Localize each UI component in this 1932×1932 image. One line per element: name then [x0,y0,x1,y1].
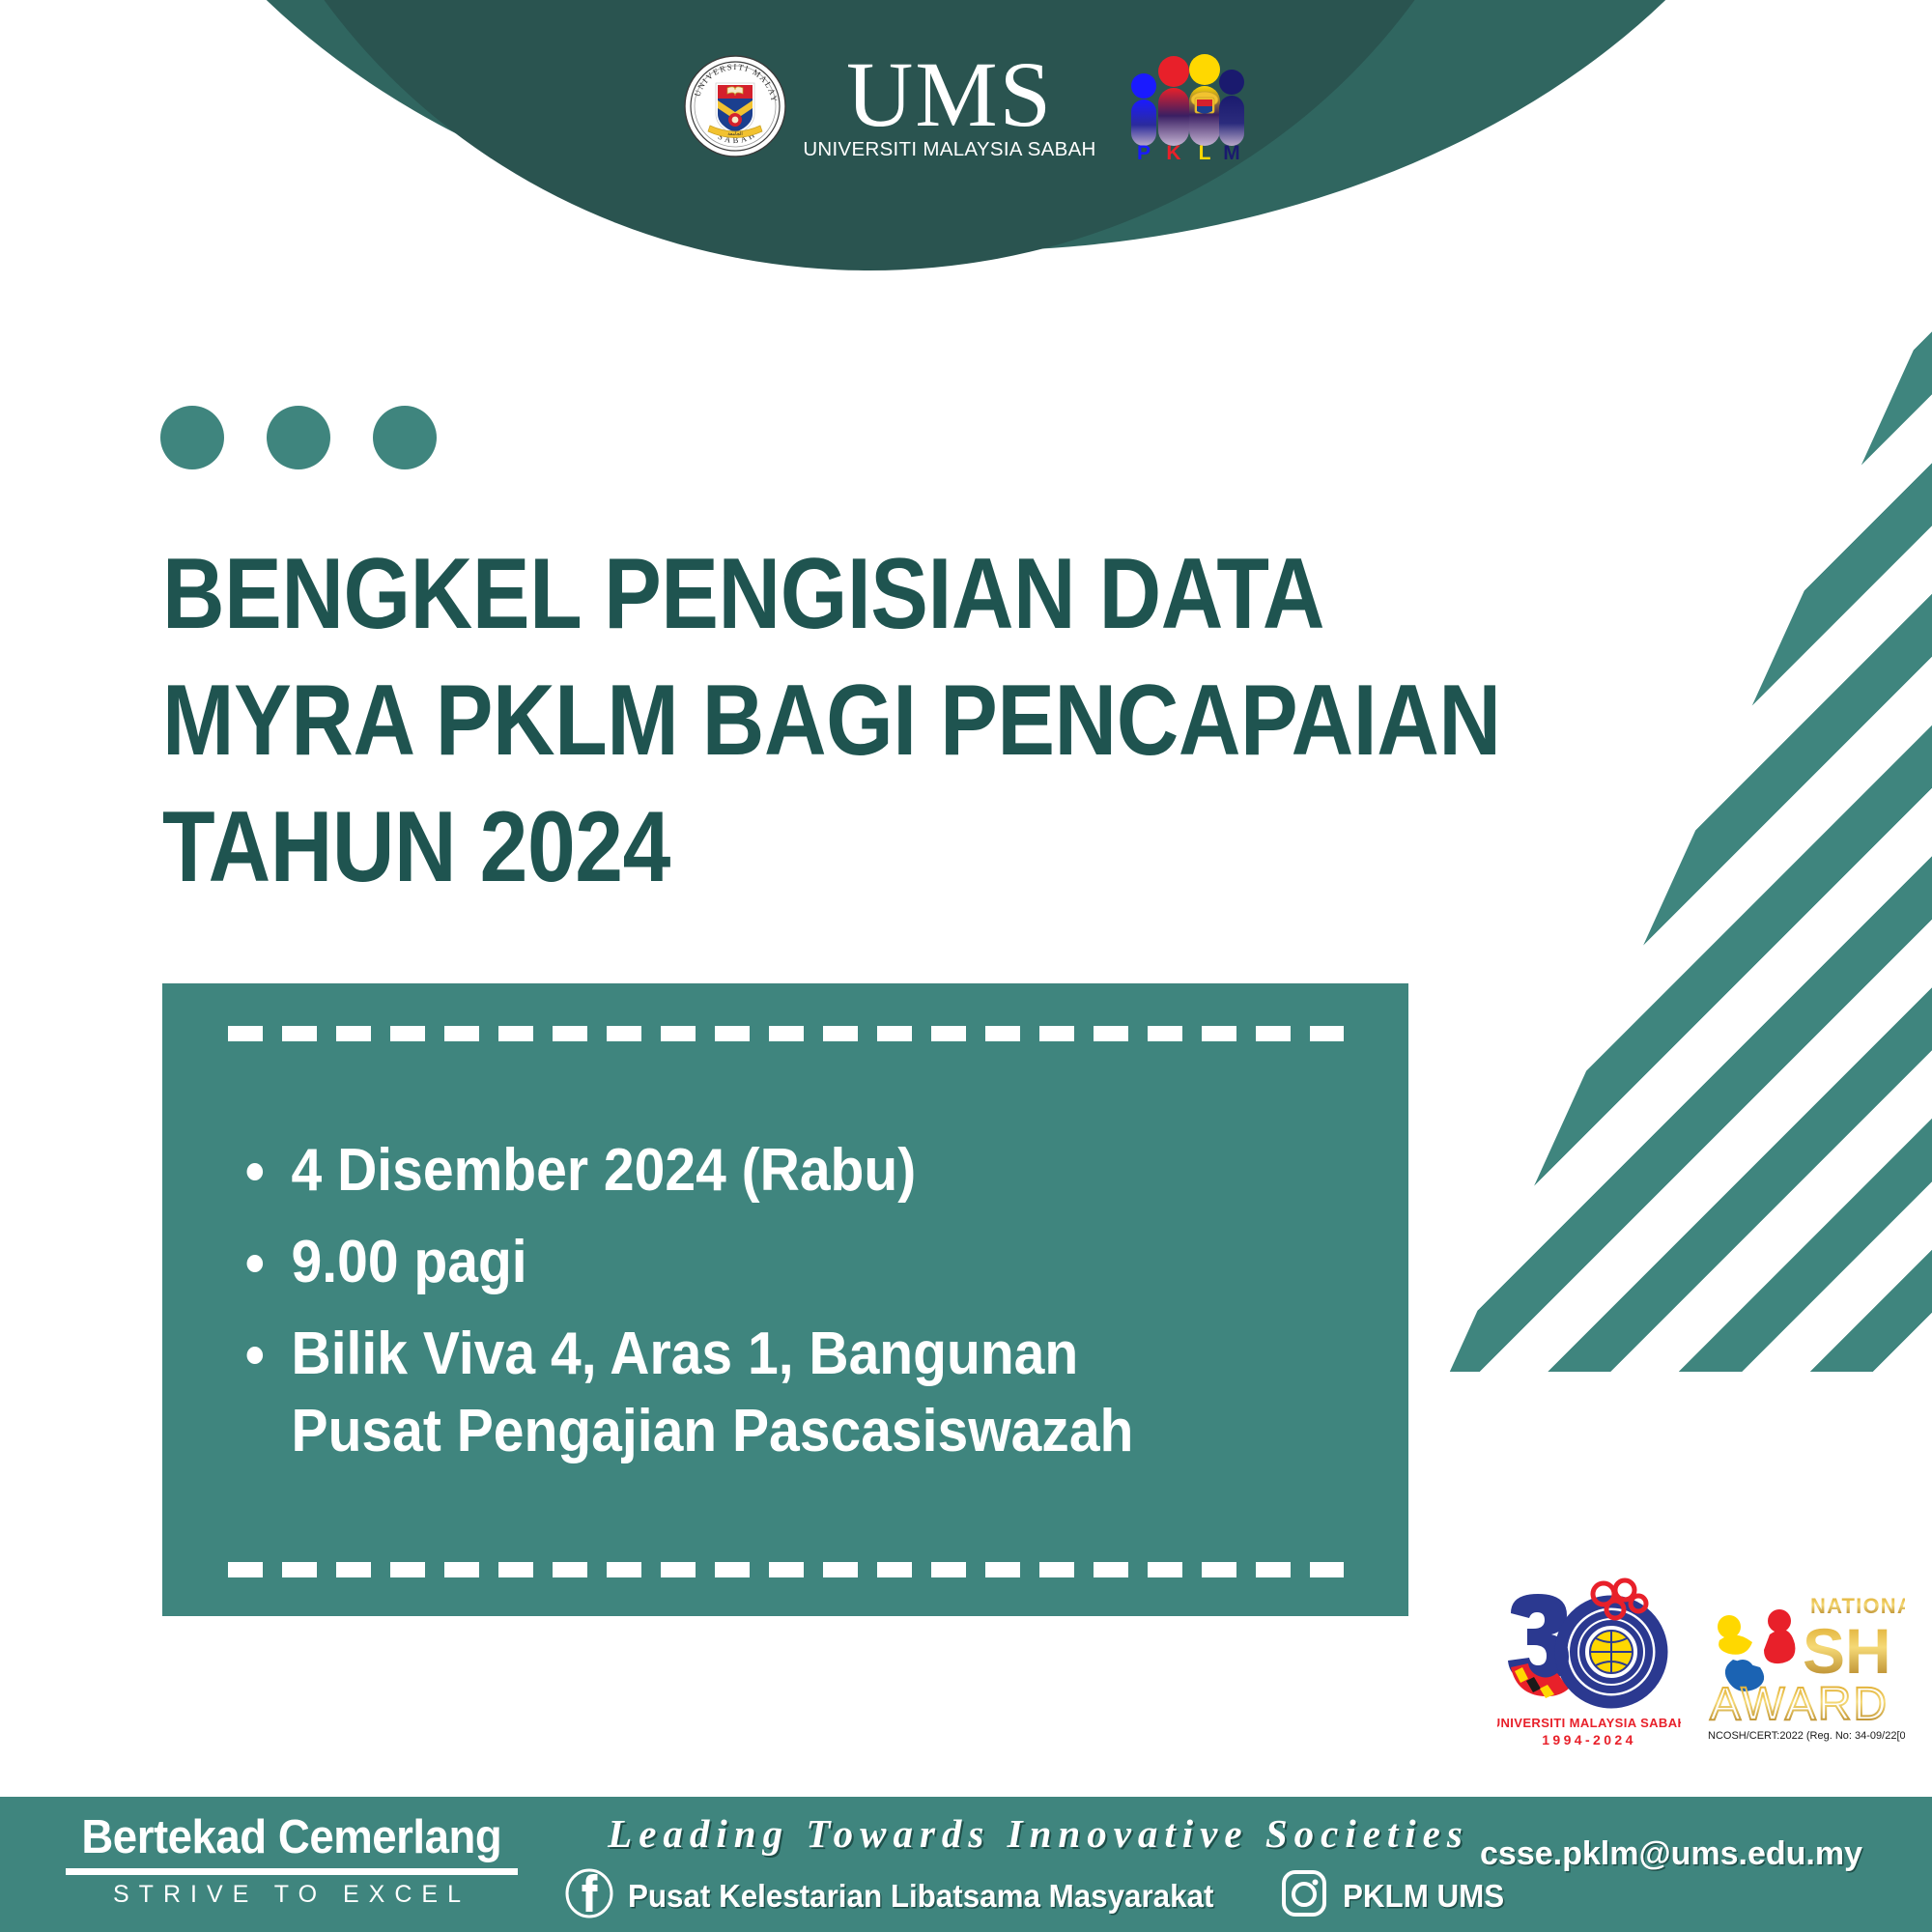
footer-motto: Bertekad Cemerlang [82,1814,502,1861]
osh-line3-text: AWARD [1710,1679,1889,1730]
award-logo-group: UNIVERSITI MALAYSIA SABAH 1994-2024 [1497,1573,1905,1756]
title-line-3: TAHUN 2024 [162,784,1434,911]
svg-text:M: M [1223,142,1240,163]
footer-bar: Bertekad Cemerlang STRIVE TO EXCEL Leadi… [0,1797,1932,1932]
instagram-icon [1279,1868,1329,1923]
title-line-2: MYRA PKLM BAGI PENCAPAIAN [162,658,1434,784]
svg-text:L: L [1198,142,1210,163]
anniv-institution-text: UNIVERSITI MALAYSIA SABAH [1497,1716,1681,1730]
footer-motto-block: Bertekad Cemerlang STRIVE TO EXCEL [50,1814,533,1909]
decorative-dots [160,406,437,469]
osh-line2-text: SH [1803,1615,1891,1687]
instagram-handle-text: PKLM UMS [1343,1878,1504,1915]
ums-wordmark-subtitle: UNIVERSITI MALAYSIA SABAH [803,140,1095,160]
ums-logo: UNIVERSITI MALAYSIA SABAH [683,52,1095,160]
event-details-box: 4 Disember 2024 (Rabu) 9.00 pagi Bilik V… [162,983,1408,1616]
detail-item-venue: Bilik Viva 4, Aras 1, Bangunan Pusat Pen… [241,1316,1265,1471]
dot-3 [373,406,437,469]
dashed-divider-top [228,1026,1344,1041]
page-title: BENGKEL PENGISIAN DATA MYRA PKLM BAGI PE… [162,531,1434,911]
instagram-handle[interactable]: PKLM UMS [1279,1868,1513,1923]
svg-text:P: P [1137,142,1151,163]
footer-social-row: Pusat Kelestarian Libatsama Masyarakat P… [564,1868,1513,1923]
footer-email[interactable]: csse.pklm@ums.edu.my [1480,1835,1862,1873]
footer-tagline: Leading Towards Innovative Societies [608,1810,1469,1857]
pklm-logo: P K L M [1123,49,1249,163]
svg-text:الجامعة: الجامعة [728,131,743,137]
dot-2 [267,406,330,469]
ums-30th-anniversary-logo: UNIVERSITI MALAYSIA SABAH 1994-2024 [1497,1573,1681,1756]
dot-1 [160,406,224,469]
ums-crest-icon: UNIVERSITI MALAYSIA SABAH [683,54,787,158]
facebook-handle-text: Pusat Kelestarian Libatsama Masyarakat [628,1878,1213,1915]
footer-motto-rule [66,1868,518,1875]
header-logo-group: UNIVERSITI MALAYSIA SABAH [0,39,1932,174]
poster-canvas: UNIVERSITI MALAYSIA SABAH [0,0,1932,1932]
detail-venue-text-line2: Pusat Pengajian Pascasiswazah [292,1393,1265,1471]
osh-cert-text: NCOSH/CERT:2022 (Reg. No: 34-09/22[01]) [1708,1730,1905,1742]
facebook-handle[interactable]: Pusat Kelestarian Libatsama Masyarakat [564,1868,1244,1923]
facebook-icon [564,1868,614,1923]
detail-item-date: 4 Disember 2024 (Rabu) [241,1132,1265,1210]
ums-wordmark-text: UMS [846,52,1053,137]
national-osh-award-logo: NATIONAL SH AWARD NCOSH/CERT:2022 (Reg. … [1702,1573,1905,1756]
dashed-divider-bottom [228,1562,1344,1577]
title-line-1: BENGKEL PENGISIAN DATA [162,531,1434,658]
ums-wordmark: UMS UNIVERSITI MALAYSIA SABAH [803,52,1095,160]
detail-date-text: 4 Disember 2024 (Rabu) [292,1137,917,1204]
detail-item-time: 9.00 pagi [241,1224,1265,1302]
detail-venue-text: Bilik Viva 4, Aras 1, Bangunan [292,1321,1079,1387]
event-details-list: 4 Disember 2024 (Rabu) 9.00 pagi Bilik V… [216,1119,1354,1484]
anniv-years-text: 1994-2024 [1542,1732,1636,1747]
detail-time-text: 9.00 pagi [292,1229,527,1295]
svg-text:K: K [1166,142,1180,163]
footer-center-block: Leading Towards Innovative Societies Pus… [580,1810,1497,1923]
footer-motto-sub: STRIVE TO EXCEL [113,1881,470,1909]
